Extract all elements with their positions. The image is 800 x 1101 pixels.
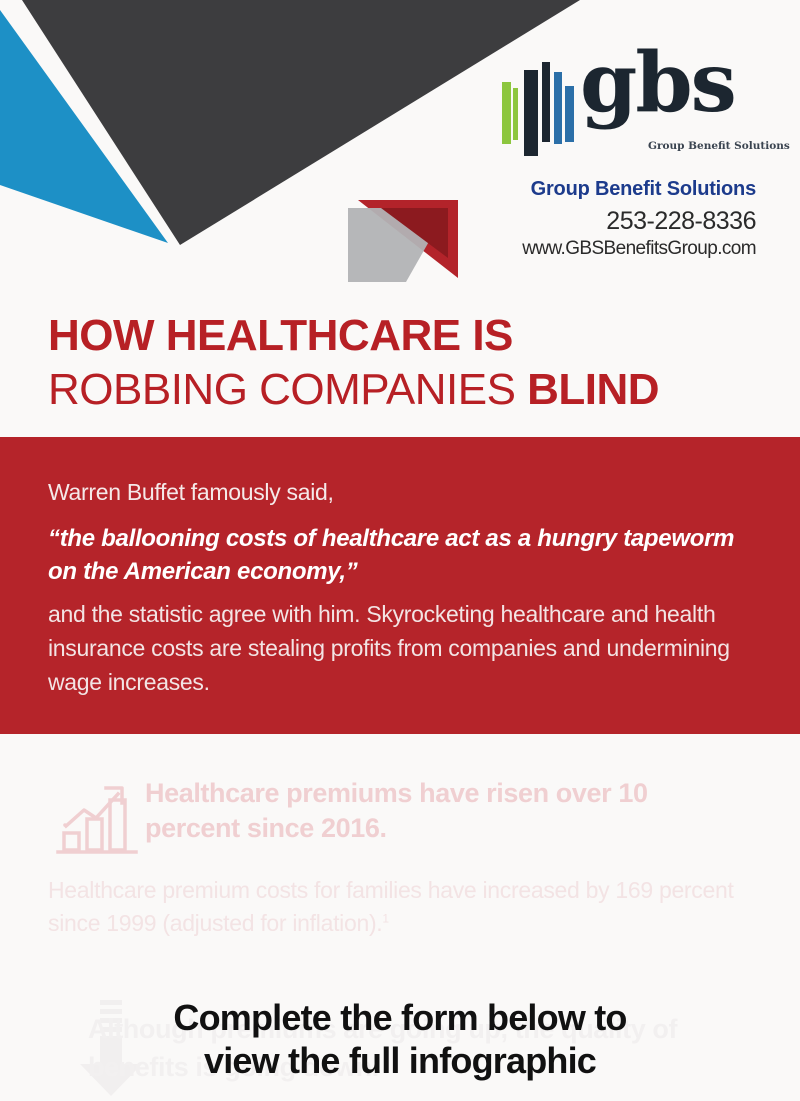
gbs-logo: gbs Group Benefit Solutions [488, 56, 758, 166]
cta-line2: view the full infographic [0, 1039, 800, 1082]
website-url[interactable]: www.GBSBenefitsGroup.com [426, 238, 756, 260]
quote-text: “the ballooning costs of healthcare act … [48, 523, 748, 588]
stat-footnote-marker: 1 [382, 912, 388, 926]
cta-message: Complete the form below to view the full… [0, 996, 800, 1082]
quote-body-text: and the statistic agree with him. Skyroc… [48, 597, 758, 699]
infographic-page: gbs Group Benefit Solutions Group Benefi… [0, 0, 800, 1101]
logo-tagline: Group Benefit Solutions [648, 140, 790, 152]
company-name: Group Benefit Solutions [426, 178, 756, 201]
footer-cta-section: Although premiums are going up, the qual… [0, 974, 800, 1101]
cta-line1: Complete the form below to [0, 996, 800, 1039]
stat-section: Healthcare premiums have risen over 10 p… [0, 734, 800, 974]
page-title-line1: HOW HEALTHCARE IS [48, 311, 513, 361]
quote-block: Warren Buffet famously said, “the balloo… [0, 437, 800, 734]
title-section: HOW HEALTHCARE IS ROBBING COMPANIES BLIN… [0, 300, 800, 437]
page-title-line2-emphasis: BLIND [527, 365, 659, 414]
page-title-line2: ROBBING COMPANIES BLIND [48, 365, 659, 415]
logo-wordmark: gbs [580, 42, 735, 124]
stat-headline: Healthcare premiums have risen over 10 p… [145, 776, 745, 846]
contact-info: Group Benefit Solutions 253-228-8336 www… [426, 178, 756, 260]
phone-number[interactable]: 253-228-8336 [426, 207, 756, 236]
header-graphics: gbs Group Benefit Solutions Group Benefi… [0, 0, 800, 300]
page-title-line2-normal: ROBBING COMPANIES [48, 365, 527, 414]
stat-subtext: Healthcare premium costs for families ha… [48, 874, 758, 941]
rising-bar-chart-icon [56, 776, 142, 856]
stat-subtext-body: Healthcare premium costs for families ha… [48, 877, 734, 936]
quote-intro: Warren Buffet famously said, [48, 479, 334, 506]
bar-chart-logo-icon [500, 62, 580, 158]
